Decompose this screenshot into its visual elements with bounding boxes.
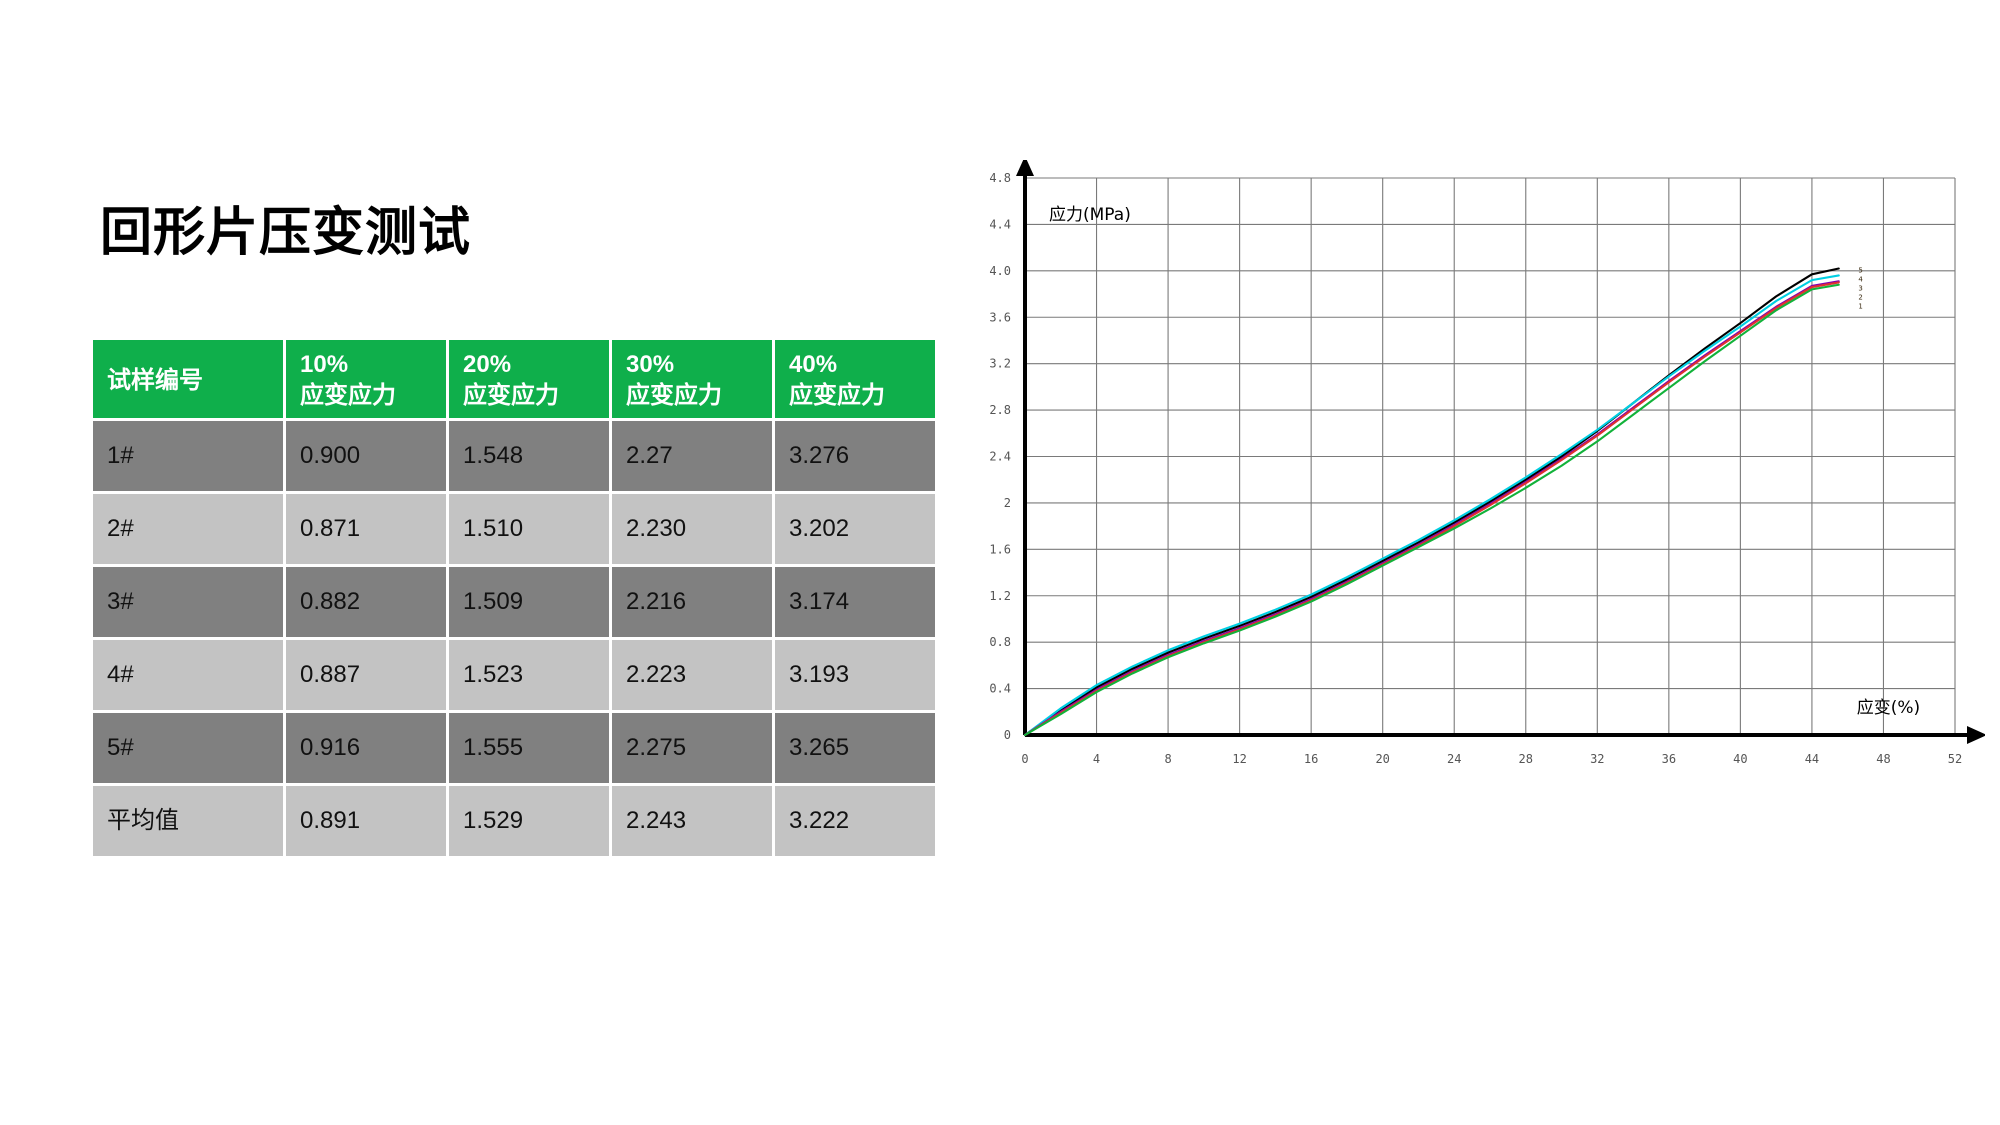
- x-axis-tick-label: 16: [1304, 752, 1318, 766]
- table-row: 5# 0.916 1.555 2.275 3.265: [93, 713, 935, 783]
- x-axis-tick-label: 36: [1662, 752, 1676, 766]
- cell-20pct: 1.555: [449, 713, 609, 783]
- y-axis-tick-label: 0.8: [989, 635, 1011, 649]
- cell-30pct: 2.223: [612, 640, 772, 710]
- y-axis-tick-label: 1.2: [989, 589, 1011, 603]
- row-label: 4#: [93, 640, 283, 710]
- cell-20pct: 1.548: [449, 421, 609, 491]
- cell-20pct: 1.510: [449, 494, 609, 564]
- cell-40pct: 3.222: [775, 786, 935, 856]
- cell-40pct: 3.265: [775, 713, 935, 783]
- series-endpoint-label: 2: [1858, 294, 1862, 302]
- x-axis-tick-label: 20: [1375, 752, 1389, 766]
- y-axis-tick-label: 4.4: [989, 217, 1011, 231]
- y-axis-tick-label: 3.2: [989, 357, 1011, 371]
- series-endpoint-label: 1: [1858, 303, 1862, 311]
- y-axis-tick-label: 0.4: [989, 682, 1011, 696]
- table-header-cell-2: 20% 应变应力: [449, 340, 609, 418]
- cell-10pct: 0.916: [286, 713, 446, 783]
- x-axis-tick-label: 40: [1733, 752, 1747, 766]
- y-axis-tick-label: 4.0: [989, 264, 1011, 278]
- header-sub-3: 应变应力: [626, 381, 758, 412]
- table-header-cell-3: 30% 应变应力: [612, 340, 772, 418]
- header-sub-2: 应变应力: [463, 381, 595, 412]
- y-axis-tick-label: 2: [1004, 496, 1011, 510]
- series-endpoint-label: 5: [1858, 267, 1862, 275]
- row-label: 平均值: [93, 786, 283, 856]
- table-header-cell-4: 40% 应变应力: [775, 340, 935, 418]
- x-axis-tick-label: 24: [1447, 752, 1461, 766]
- y-axis-title: 应力(MPa): [1049, 205, 1131, 225]
- series-endpoint-label: 4: [1858, 276, 1863, 284]
- header-sub-0: 试样编号: [107, 366, 269, 397]
- chart-series-line: [1025, 285, 1839, 735]
- y-axis-tick-label: 0: [1004, 728, 1011, 742]
- slide-canvas: 回形片压变测试 试样编号 10% 应变应力 20% 应变应力 30: [0, 0, 2000, 1125]
- table-row-average: 平均值 0.891 1.529 2.243 3.222: [93, 786, 935, 856]
- table-row: 3# 0.882 1.509 2.216 3.174: [93, 567, 935, 637]
- y-axis-tick-label: 4.8: [989, 171, 1011, 185]
- header-pct-2: 20%: [463, 350, 595, 381]
- cell-30pct: 2.216: [612, 567, 772, 637]
- y-axis-tick-label: 3.6: [989, 310, 1011, 324]
- header-sub-4: 应变应力: [789, 381, 921, 412]
- y-axis-tick-label: 2.8: [989, 403, 1011, 417]
- x-axis-tick-label: 28: [1519, 752, 1533, 766]
- stress-strain-chart: 00.40.81.21.622.42.83.23.64.04.44.804812…: [985, 160, 1985, 970]
- header-pct-4: 40%: [789, 350, 921, 381]
- page-title: 回形片压变测试: [100, 190, 471, 265]
- cell-40pct: 3.202: [775, 494, 935, 564]
- x-axis-tick-label: 32: [1590, 752, 1604, 766]
- cell-10pct: 0.882: [286, 567, 446, 637]
- table-header-cell-0: 试样编号: [93, 340, 283, 418]
- x-axis-tick-label: 48: [1876, 752, 1890, 766]
- row-label: 5#: [93, 713, 283, 783]
- x-axis-tick-label: 52: [1948, 752, 1962, 766]
- table-row: 1# 0.900 1.548 2.27 3.276: [93, 421, 935, 491]
- cell-10pct: 0.871: [286, 494, 446, 564]
- table-row: 2# 0.871 1.510 2.230 3.202: [93, 494, 935, 564]
- cell-40pct: 3.174: [775, 567, 935, 637]
- cell-30pct: 2.275: [612, 713, 772, 783]
- table-row: 4# 0.887 1.523 2.223 3.193: [93, 640, 935, 710]
- header-pct-1: 10%: [300, 350, 432, 381]
- x-axis-tick-label: 0: [1021, 752, 1028, 766]
- x-axis-tick-label: 12: [1232, 752, 1246, 766]
- table-header-cell-1: 10% 应变应力: [286, 340, 446, 418]
- cell-40pct: 3.276: [775, 421, 935, 491]
- cell-30pct: 2.230: [612, 494, 772, 564]
- cell-40pct: 3.193: [775, 640, 935, 710]
- x-axis-tick-label: 4: [1093, 752, 1100, 766]
- x-axis-arrow-icon: [1967, 726, 1985, 744]
- y-axis-arrow-icon: [1016, 160, 1034, 176]
- cell-20pct: 1.523: [449, 640, 609, 710]
- cell-20pct: 1.529: [449, 786, 609, 856]
- cell-30pct: 2.243: [612, 786, 772, 856]
- row-label: 1#: [93, 421, 283, 491]
- x-axis-title: 应变(%): [1857, 698, 1920, 718]
- header-pct-3: 30%: [626, 350, 758, 381]
- row-label: 3#: [93, 567, 283, 637]
- cell-10pct: 0.900: [286, 421, 446, 491]
- y-axis-tick-label: 2.4: [989, 450, 1011, 464]
- table-header-row: 试样编号 10% 应变应力 20% 应变应力 30% 应变应力 40% 应变应力: [93, 340, 935, 418]
- cell-30pct: 2.27: [612, 421, 772, 491]
- x-axis-tick-label: 8: [1164, 752, 1171, 766]
- compression-data-table: 试样编号 10% 应变应力 20% 应变应力 30% 应变应力 40% 应变应力: [90, 337, 938, 859]
- header-sub-1: 应变应力: [300, 381, 432, 412]
- y-axis-tick-label: 1.6: [989, 542, 1011, 556]
- cell-10pct: 0.887: [286, 640, 446, 710]
- row-label: 2#: [93, 494, 283, 564]
- cell-20pct: 1.509: [449, 567, 609, 637]
- cell-10pct: 0.891: [286, 786, 446, 856]
- series-endpoint-label: 3: [1858, 285, 1862, 293]
- x-axis-tick-label: 44: [1805, 752, 1819, 766]
- chart-svg: 00.40.81.21.622.42.83.23.64.04.44.804812…: [985, 160, 1985, 970]
